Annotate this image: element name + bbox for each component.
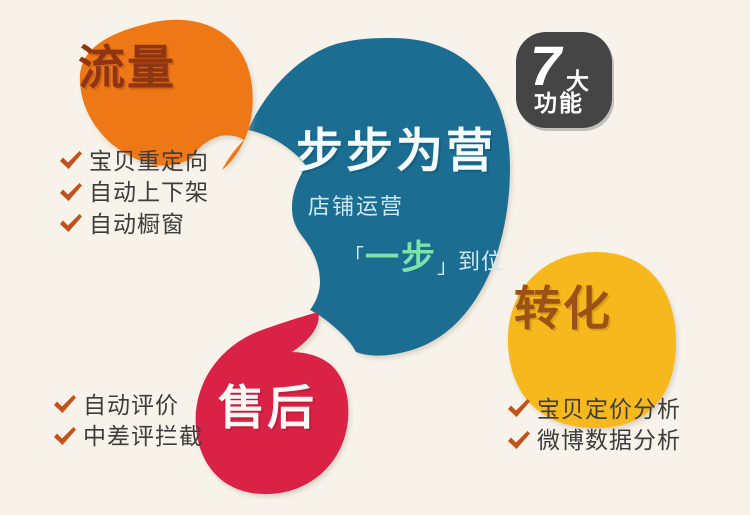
node-label-traffic: 流量 [78, 44, 176, 91]
tagline-highlight: 一步 [365, 239, 437, 277]
list-item-label: 中差评拦截 [83, 423, 203, 449]
seven-functions-badge: 7 大 功能 [516, 32, 612, 128]
list-item: 自动上下架 [58, 179, 209, 205]
infographic-canvas: 流量 售后 转化 步步为营 店铺运营 「一步」到位 7 大 功能 宝贝重定向 自… [0, 0, 750, 515]
tagline-tail: 到位 [458, 249, 504, 274]
check-mark-icon [506, 428, 532, 454]
list-item: 微博数据分析 [506, 427, 681, 453]
list-item-label: 自动橱窗 [89, 211, 185, 237]
list-item-label: 自动评价 [83, 392, 179, 418]
list-item: 自动评价 [52, 392, 203, 418]
feature-list-aftersales: 自动评价 中差评拦截 [52, 392, 203, 455]
list-item-label: 宝贝定价分析 [537, 396, 681, 422]
center-headline: 步步为营 [296, 126, 536, 175]
list-item: 自动橱窗 [58, 211, 209, 237]
badge-word: 功能 [534, 92, 584, 115]
list-item-label: 微博数据分析 [537, 427, 681, 453]
check-mark-icon [58, 180, 84, 206]
node-label-aftersales: 售后 [218, 384, 316, 431]
list-item-label: 自动上下架 [89, 179, 209, 205]
check-mark-icon [506, 396, 532, 422]
feature-list-traffic: 宝贝重定向 自动上下架 自动橱窗 [58, 148, 209, 242]
center-subtitle: 店铺运营 [308, 189, 536, 221]
list-item: 宝贝定价分析 [506, 396, 681, 422]
badge-number: 7 [530, 38, 560, 94]
check-mark-icon [52, 392, 78, 418]
node-label-conversion: 转化 [514, 285, 612, 332]
list-item-label: 宝贝重定向 [89, 148, 209, 174]
check-mark-icon [52, 424, 78, 450]
tagline-open-bracket: 「 [344, 246, 365, 268]
feature-list-conversion: 宝贝定价分析 微博数据分析 [506, 396, 681, 459]
tagline-close-bracket: 」 [437, 256, 458, 278]
center-text-block: 步步为营 店铺运营 「一步」到位 [296, 126, 536, 279]
list-item: 宝贝重定向 [58, 148, 209, 174]
check-mark-icon [58, 211, 84, 237]
center-tagline: 「一步」到位 [344, 230, 536, 279]
check-mark-icon [58, 148, 84, 174]
list-item: 中差评拦截 [52, 423, 203, 449]
